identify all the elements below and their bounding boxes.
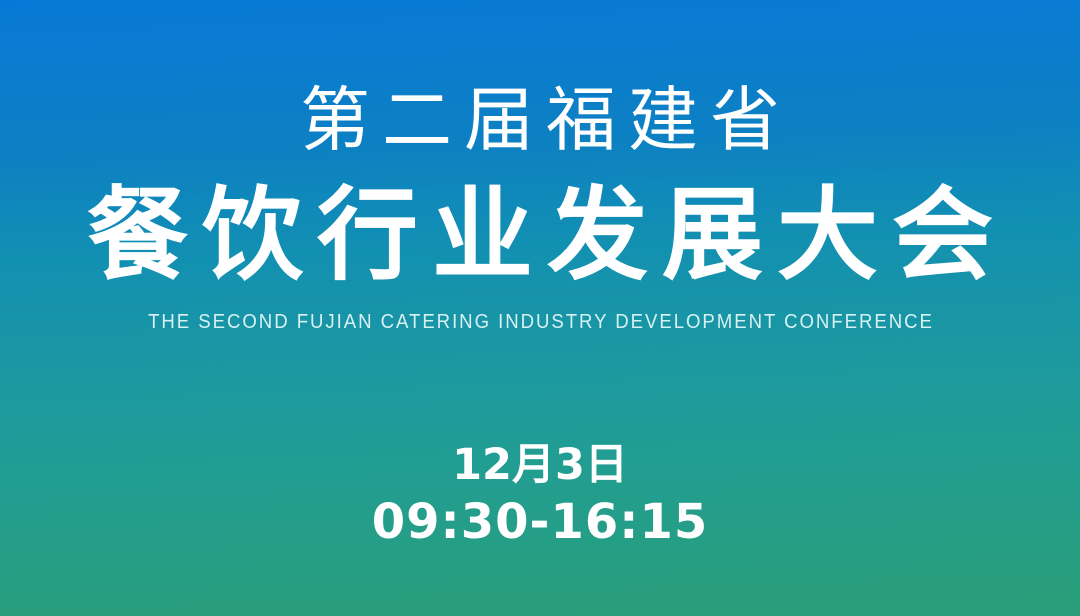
event-title-line-2: 餐饮行业发展大会 [0,179,1080,291]
event-subtitle-english: THE SECOND FUJIAN CATERING INDUSTRY DEVE… [38,309,1042,335]
event-title-line-1: 第二届福建省 [0,78,1080,162]
conference-poster: 第二届福建省 餐饮行业发展大会 THE SECOND FUJIAN CATERI… [0,0,1080,616]
event-datetime-block: 12月3日 09:30-16:15 [0,437,1080,551]
event-time-range: 09:30-16:15 [0,493,1080,551]
event-date: 12月3日 [0,437,1080,493]
